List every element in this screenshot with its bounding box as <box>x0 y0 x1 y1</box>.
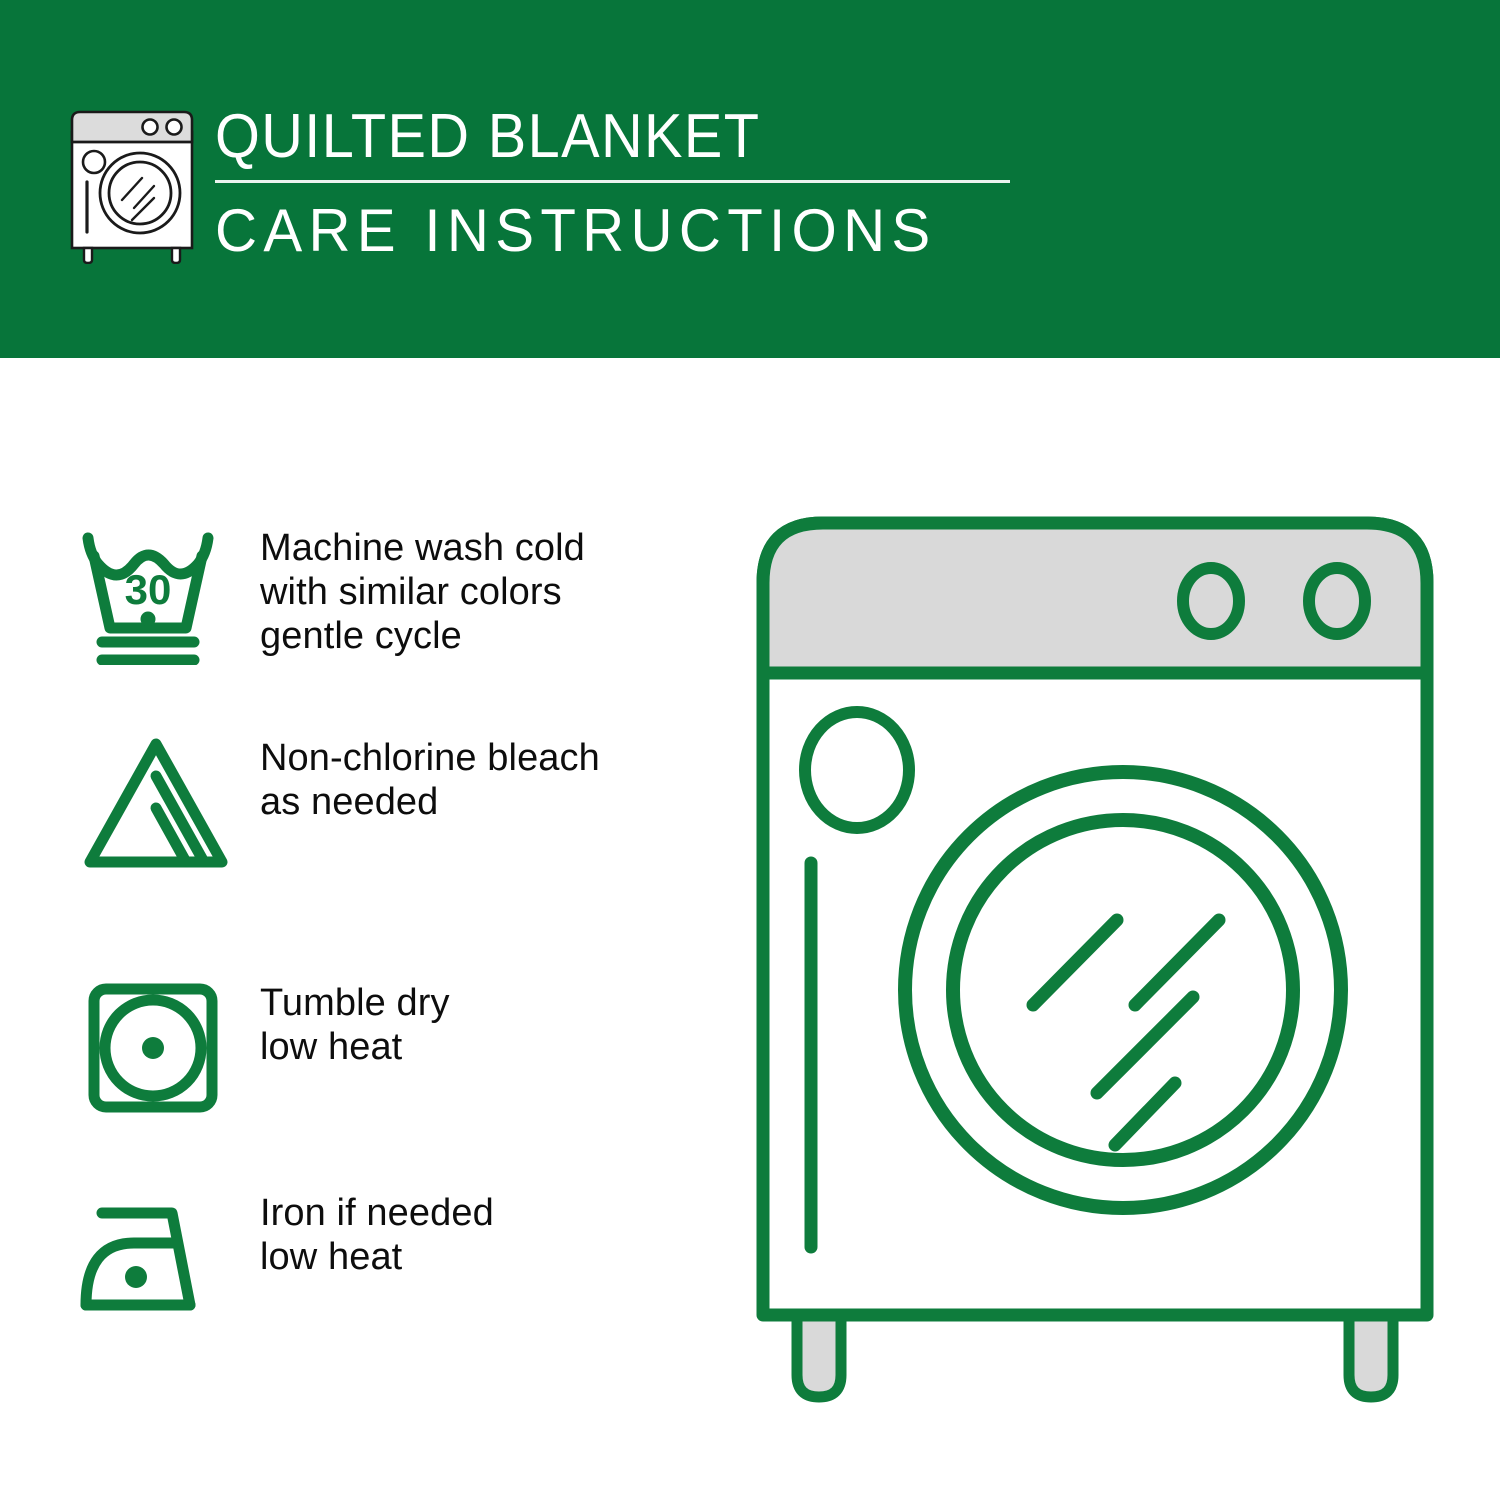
care-instructions-infographic: QUILTED BLANKET CARE INSTRUCTIONS 30 Mac… <box>0 0 1500 1500</box>
washer-leg <box>1349 1310 1393 1397</box>
care-label-line: Tumble dry <box>260 981 450 1025</box>
care-row-tumble-dry: Tumble dry low heat <box>72 975 712 1120</box>
care-row-iron: Iron if needed low heat <box>72 1185 712 1330</box>
care-label-machine-wash: Machine wash cold with similar colors ge… <box>260 520 585 658</box>
care-label-line: low heat <box>260 1025 450 1069</box>
page-title: QUILTED BLANKET <box>215 100 959 174</box>
front-load-washing-machine-illustration <box>745 505 1445 1415</box>
iron-low-heat-icon <box>72 1185 242 1330</box>
washer-knob <box>1309 568 1365 634</box>
washer-knob <box>1183 568 1239 634</box>
care-label-line: Machine wash cold <box>260 526 585 570</box>
detergent-dispenser-icon <box>805 712 909 828</box>
wash-temp-value: 30 <box>125 566 172 613</box>
care-row-machine-wash: 30 Machine wash cold with similar colors… <box>72 520 712 665</box>
care-label-iron: Iron if needed low heat <box>260 1185 494 1279</box>
non-chlorine-bleach-triangle-icon <box>72 730 242 875</box>
care-label-line: as needed <box>260 780 600 824</box>
washer-leg <box>797 1310 841 1397</box>
care-label-line: low heat <box>260 1235 494 1279</box>
title-divider <box>215 180 1010 183</box>
care-label-line: gentle cycle <box>260 614 585 658</box>
page-subtitle: CARE INSTRUCTIONS <box>215 197 991 265</box>
washer-door-inner <box>953 820 1293 1160</box>
header-text-block: QUILTED BLANKET CARE INSTRUCTIONS <box>215 100 1015 265</box>
care-row-bleach: Non-chlorine bleach as needed <box>72 730 712 875</box>
care-label-line: Iron if needed <box>260 1191 494 1235</box>
header-banner: QUILTED BLANKET CARE INSTRUCTIONS <box>0 0 1500 358</box>
care-label-tumble-dry: Tumble dry low heat <box>260 975 450 1069</box>
wash-tub-30-gentle-icon: 30 <box>72 520 242 665</box>
tumble-dry-low-icon <box>72 975 242 1120</box>
care-label-line: Non-chlorine bleach <box>260 736 600 780</box>
care-label-bleach: Non-chlorine bleach as needed <box>260 730 600 824</box>
washing-machine-icon <box>62 104 202 264</box>
care-label-line: with similar colors <box>260 570 585 614</box>
